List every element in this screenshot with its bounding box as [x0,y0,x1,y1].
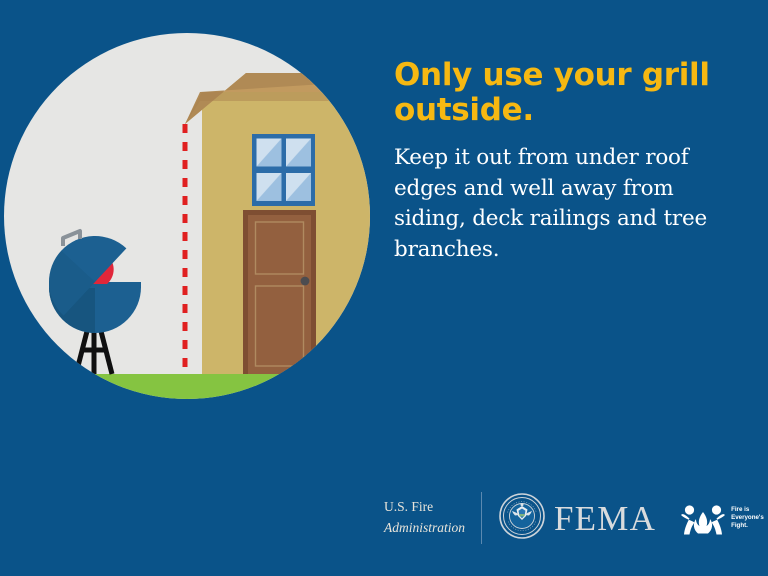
usfa-line-1: U.S. Fire [384,497,465,518]
footer-divider [481,492,482,544]
agency-logo-footer: U.S. Fire Administration [384,487,744,549]
feef-line-1: Fire is [731,506,764,514]
grass-band [4,374,370,402]
message-block: Only use your grill outside. Keep it out… [394,58,742,265]
usfa-line-2: Administration [384,518,465,539]
usfa-lockup: U.S. Fire Administration [384,497,481,539]
feef-line-3: Fight. [731,522,764,530]
doorknob [301,277,310,286]
fema-wordmark: FEMA [554,501,656,536]
feef-line-2: Everyone's [731,514,764,522]
headline: Only use your grill outside. [394,58,742,128]
grill-outside-house-illustration [4,30,370,402]
feef-tagline: Fire is Everyone's Fight. [731,506,764,529]
feef-people-icon [678,498,728,538]
house-door [243,210,316,374]
fire-is-everyones-fight-logo: Fire is Everyone's Fight. [678,498,764,538]
dhs-seal-icon [499,493,545,544]
house-window [252,134,315,206]
public-safety-poster: Only use your grill outside. Keep it out… [0,0,768,576]
body-copy: Keep it out from under roof edges and we… [394,143,742,265]
